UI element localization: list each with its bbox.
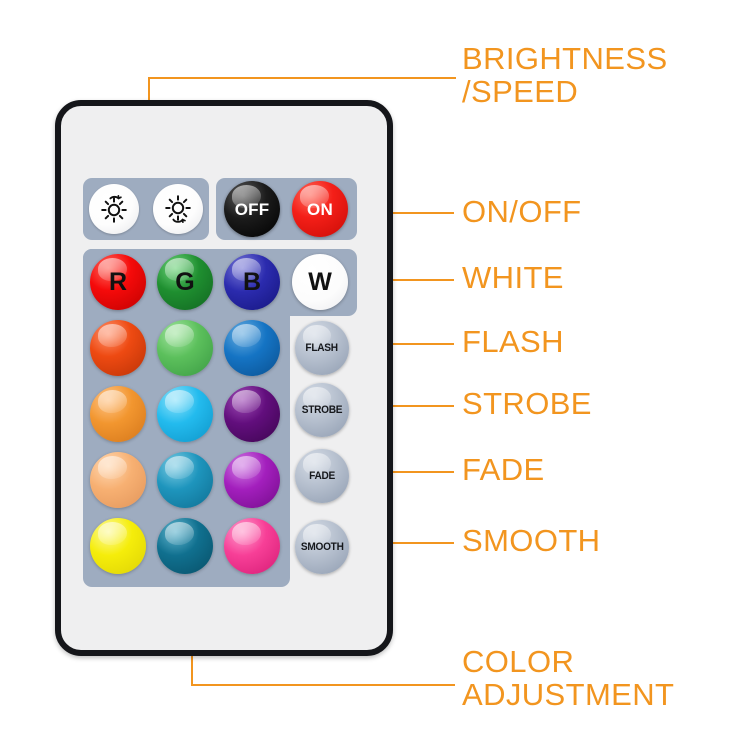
brightness-down-button[interactable] bbox=[153, 184, 203, 234]
sun-up-icon bbox=[98, 193, 130, 225]
on-button[interactable]: ON bbox=[292, 181, 348, 237]
green-button[interactable]: G bbox=[157, 254, 213, 310]
fade-button[interactable]: FADE bbox=[295, 449, 349, 503]
red-button[interactable]: R bbox=[90, 254, 146, 310]
color-swatch-yellow[interactable] bbox=[90, 518, 146, 574]
color-leader-horizontal bbox=[191, 684, 455, 686]
blue-button-label: B bbox=[243, 270, 261, 295]
flash-button-label: FLASH bbox=[306, 343, 338, 354]
flash-button[interactable]: FLASH bbox=[295, 321, 349, 375]
color-swatch-pink[interactable] bbox=[224, 518, 280, 574]
color-swatch-teal-blue[interactable] bbox=[157, 452, 213, 508]
on-button-label: ON bbox=[307, 201, 333, 218]
remote-control-body: OFF ON R G B W FLASH STROBE FADE SMOOTH bbox=[55, 100, 393, 656]
strobe-button-label: STROBE bbox=[302, 405, 343, 416]
fade-button-label: FADE bbox=[309, 471, 335, 482]
white-button-label: W bbox=[308, 270, 332, 295]
off-button-label: OFF bbox=[235, 201, 270, 218]
callout-strobe: STROBE bbox=[462, 388, 592, 421]
callout-power: ON/OFF bbox=[462, 196, 582, 229]
color-swatch-peach[interactable] bbox=[90, 452, 146, 508]
color-swatch-orange-red[interactable] bbox=[90, 320, 146, 376]
color-swatch-light-green[interactable] bbox=[157, 320, 213, 376]
green-button-label: G bbox=[175, 270, 194, 295]
color-swatch-violet[interactable] bbox=[224, 452, 280, 508]
sun-down-icon bbox=[162, 193, 194, 225]
callout-smooth: SMOOTH bbox=[462, 525, 600, 558]
red-button-label: R bbox=[109, 270, 127, 295]
off-button[interactable]: OFF bbox=[224, 181, 280, 237]
brightness-leader-horizontal bbox=[148, 77, 456, 79]
blue-button[interactable]: B bbox=[224, 254, 280, 310]
color-swatch-dark-teal[interactable] bbox=[157, 518, 213, 574]
callout-color: COLOR ADJUSTMENT bbox=[462, 646, 674, 712]
color-swatch-azure[interactable] bbox=[224, 320, 280, 376]
smooth-button-label: SMOOTH bbox=[301, 542, 344, 553]
white-button[interactable]: W bbox=[292, 254, 348, 310]
strobe-button[interactable]: STROBE bbox=[295, 383, 349, 437]
color-swatch-cyan[interactable] bbox=[157, 386, 213, 442]
callout-flash: FLASH bbox=[462, 326, 564, 359]
color-swatch-orange[interactable] bbox=[90, 386, 146, 442]
callout-fade: FADE bbox=[462, 454, 545, 487]
color-swatch-dark-purple[interactable] bbox=[224, 386, 280, 442]
callout-white: WHITE bbox=[462, 262, 564, 295]
brightness-up-button[interactable] bbox=[89, 184, 139, 234]
smooth-button[interactable]: SMOOTH bbox=[295, 520, 349, 574]
callout-brightness: BRIGHTNESS /SPEED bbox=[462, 43, 668, 109]
